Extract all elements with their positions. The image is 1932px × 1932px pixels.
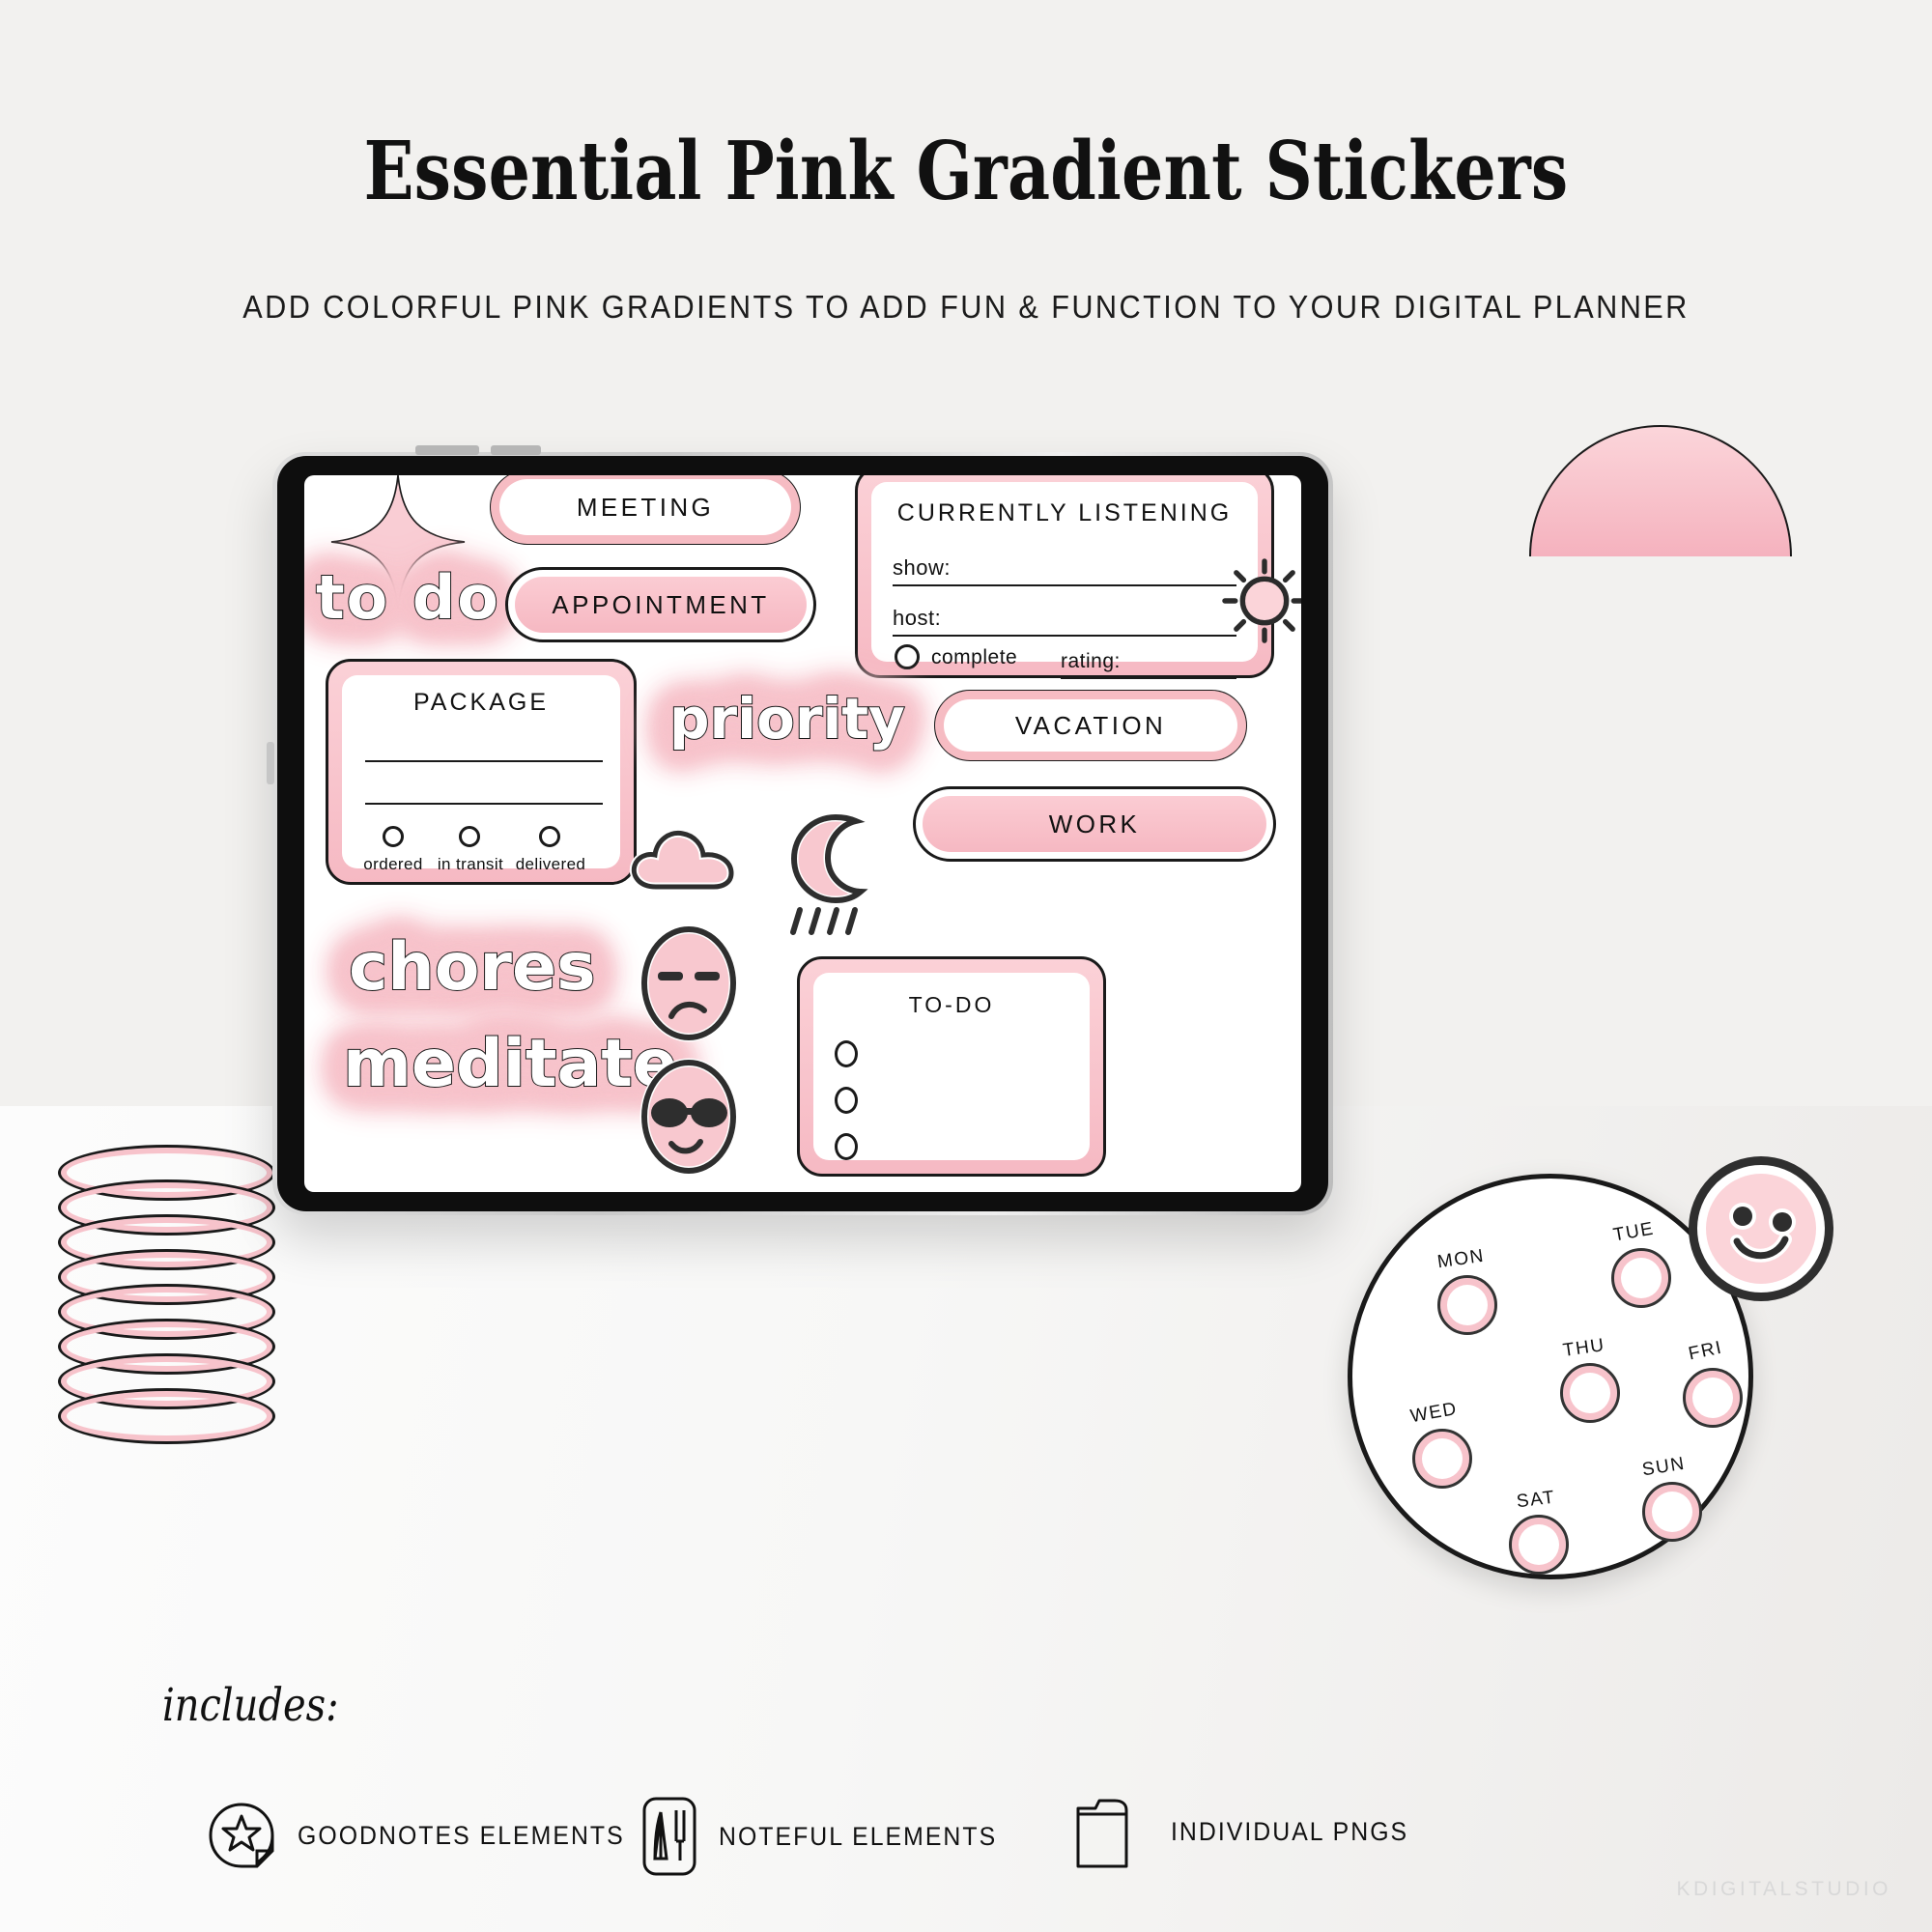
sticker-card-todo[interactable]: TO-DO [797, 956, 1106, 1177]
smiley-features [1689, 1156, 1833, 1301]
day-label-thu: THU [1562, 1335, 1606, 1362]
page-title: Essential Pink Gradient Stickers [174, 124, 1758, 218]
includes-item-label: INDIVIDUAL PNGS [1171, 1817, 1408, 1847]
sticker-pill-appointment[interactable]: APPOINTMENT [505, 567, 816, 642]
spiral-coil-decoration [58, 1145, 290, 1463]
todo-checkbox[interactable] [835, 1087, 858, 1114]
card-inner: CURRENTLY LISTENING show: host: complete… [871, 482, 1258, 662]
sun-icon [1212, 549, 1301, 653]
includes-heading: includes: [162, 1679, 339, 1732]
todo-checkbox[interactable] [835, 1133, 858, 1160]
complete-label: complete [931, 646, 1017, 669]
card-title: PACKAGE [342, 689, 620, 717]
card-inner: PACKAGE ordered in transit delivered [342, 675, 620, 868]
package-rule-2 [365, 803, 603, 805]
includes-item-goodnotes: GOODNOTES ELEMENTS [205, 1799, 653, 1872]
sticker-pill-work[interactable]: WORK [913, 786, 1276, 862]
smiley-face-icon [1689, 1156, 1833, 1301]
folder-icon [1066, 1789, 1151, 1874]
day-label-sat: SAT [1516, 1488, 1557, 1514]
day-label-wed: WED [1408, 1399, 1459, 1428]
status-checkbox-delivered[interactable] [539, 826, 560, 847]
card-inner: TO-DO [813, 973, 1090, 1160]
day-label-fri: FRI [1687, 1338, 1724, 1366]
includes-item-pngs: INDIVIDUAL PNGS [1066, 1789, 1430, 1874]
status-checkbox-ordered[interactable] [383, 826, 404, 847]
annoyed-face-icon [631, 922, 747, 1045]
pill-inner-fill: MEETING [499, 479, 791, 535]
sticker-word-chores[interactable]: chores [349, 929, 596, 1006]
sticker-word-priority[interactable]: priority [669, 686, 905, 752]
sticker-word-to-do[interactable]: to do [316, 562, 500, 633]
moon-rain-icon [764, 804, 880, 939]
pill-inner-fill: VACATION [944, 699, 1237, 752]
volume-up-button[interactable] [415, 445, 479, 455]
power-button[interactable] [267, 742, 274, 784]
tablet-screen: MEETING to do APPOINTMENT CURRENTLY LIST… [304, 475, 1301, 1192]
volume-down-button[interactable] [491, 445, 541, 455]
pill-label: VACATION [1015, 711, 1166, 741]
day-circle-fri[interactable] [1683, 1368, 1743, 1428]
noteful-pen-icon [639, 1795, 699, 1878]
pill-label: WORK [1049, 810, 1140, 839]
day-label-tue: TUE [1611, 1218, 1656, 1246]
field-label-show: show: [893, 555, 951, 581]
day-circle-wed[interactable] [1412, 1429, 1472, 1489]
pill-label: APPOINTMENT [552, 590, 769, 620]
tablet-device: MEETING to do APPOINTMENT CURRENTLY LIST… [272, 452, 1333, 1215]
page-subtitle: ADD COLORFUL PINK GRADIENTS TO ADD FUN &… [68, 289, 1864, 326]
status-label-delivered: delivered [504, 855, 597, 874]
status-checkbox-in-transit[interactable] [459, 826, 480, 847]
rating-label: rating: [1061, 650, 1121, 673]
field-rule-host [893, 635, 1236, 637]
sticker-card-package[interactable]: PACKAGE ordered in transit delivered [326, 659, 637, 885]
todo-checkbox[interactable] [835, 1040, 858, 1067]
day-circle-mon[interactable] [1437, 1275, 1497, 1335]
sticker-pill-meeting[interactable]: MEETING [490, 475, 801, 545]
rating-rule [1061, 677, 1236, 679]
sticker-card-currently-listening[interactable]: CURRENTLY LISTENING show: host: complete… [855, 475, 1274, 678]
sticker-pill-vacation[interactable]: VACATION [934, 690, 1247, 761]
day-circle-sat[interactable] [1509, 1515, 1569, 1575]
card-title: TO-DO [813, 992, 1090, 1018]
cloud-icon [627, 815, 743, 898]
watermark: KDIGITALSTUDIO [1677, 1878, 1891, 1901]
card-title: CURRENTLY LISTENING [871, 499, 1258, 527]
package-rule-1 [365, 760, 603, 762]
poster-canvas: Essential Pink Gradient Stickers ADD COL… [0, 0, 1932, 1932]
day-circle-tue[interactable] [1611, 1248, 1671, 1308]
goodnotes-star-icon [205, 1799, 278, 1872]
field-rule-show [893, 584, 1236, 586]
day-label-sun: SUN [1641, 1454, 1688, 1482]
pill-inner-fill: WORK [923, 796, 1266, 852]
includes-item-label: NOTEFUL ELEMENTS [719, 1822, 997, 1852]
pill-inner-fill: APPOINTMENT [515, 577, 807, 633]
includes-item-noteful: NOTEFUL ELEMENTS [639, 1795, 1021, 1878]
sticker-word-meditate[interactable]: meditate [343, 1026, 677, 1102]
day-circle-sun[interactable] [1642, 1482, 1702, 1542]
day-label-mon: MON [1436, 1246, 1487, 1274]
sunglasses-face-icon [631, 1055, 747, 1179]
day-circle-thu[interactable] [1560, 1363, 1620, 1423]
pill-label: MEETING [577, 493, 714, 523]
status-label-in-transit: in transit [424, 855, 517, 874]
includes-item-label: GOODNOTES ELEMENTS [298, 1821, 625, 1851]
complete-checkbox[interactable] [895, 644, 920, 669]
field-label-host: host: [893, 606, 941, 631]
